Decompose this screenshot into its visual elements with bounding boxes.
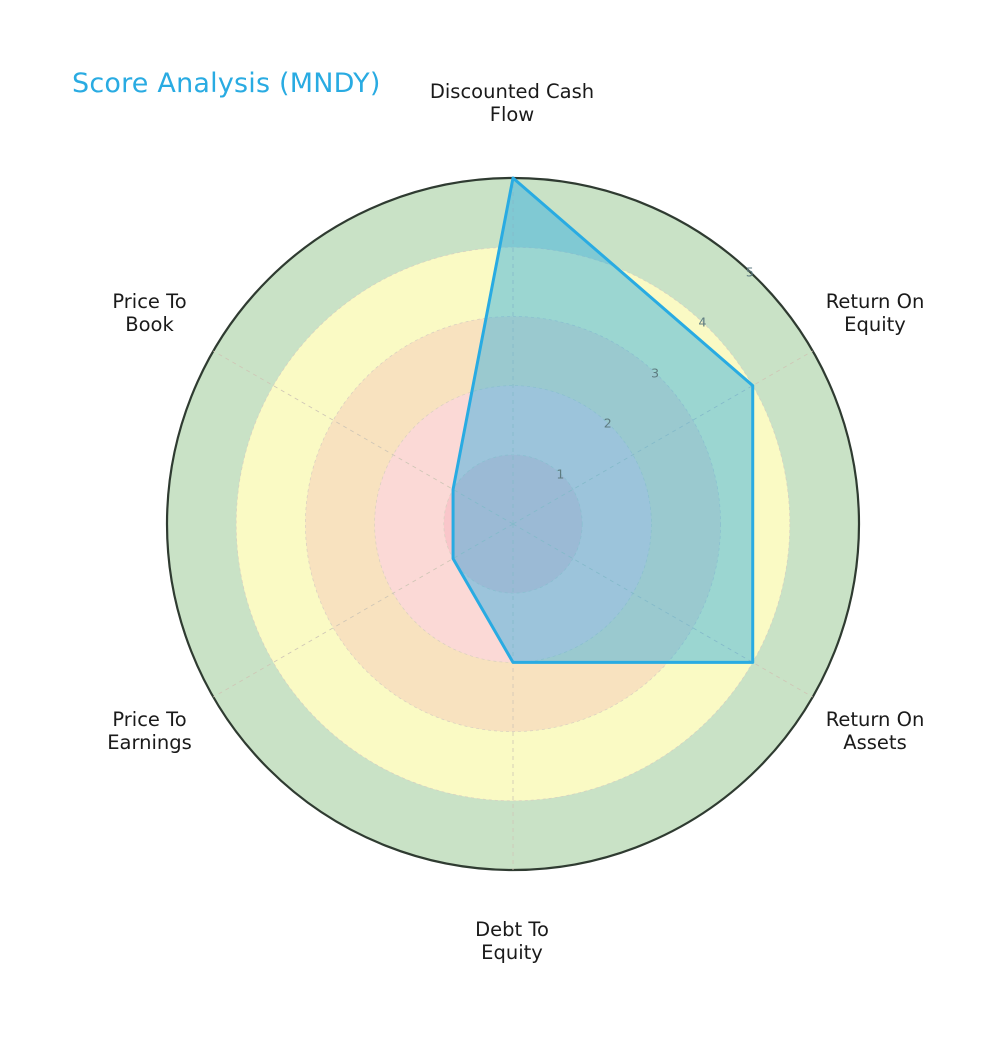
radial-tick-3: 3 [651, 365, 659, 380]
radar-chart [0, 0, 1000, 1038]
axis-label-debt-to-equity: Debt To Equity [412, 918, 612, 964]
axis-label-price-to-book: Price To Book [62, 290, 237, 336]
radial-tick-2: 2 [604, 416, 612, 431]
axis-label-return-on-assets: Return On Assets [790, 708, 960, 754]
radial-tick-1: 1 [556, 466, 564, 481]
axis-label-discounted-cash-flow: Discounted Cash Flow [412, 80, 612, 126]
radial-tick-5: 5 [746, 264, 754, 279]
chart-canvas: Score Analysis (MNDY) Discounted Cash Fl… [0, 0, 1000, 1038]
axis-label-return-on-equity: Return On Equity [790, 290, 960, 336]
radial-tick-4: 4 [698, 315, 706, 330]
axis-label-price-to-earnings: Price To Earnings [62, 708, 237, 754]
